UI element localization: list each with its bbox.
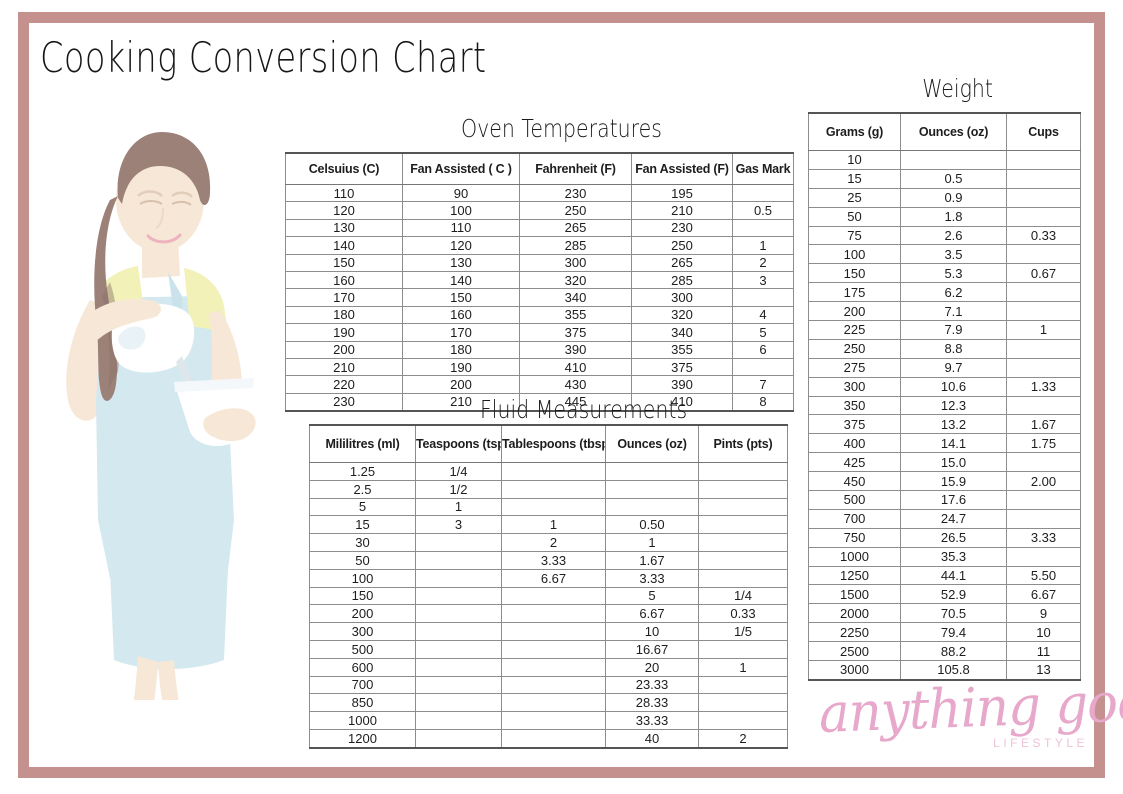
table-cell: 265: [520, 219, 632, 236]
table-row: 2007.1: [809, 302, 1081, 321]
table-row: 2006.670.33: [310, 605, 788, 623]
table-row: 2508.8: [809, 339, 1081, 358]
table-cell: 375: [632, 358, 733, 375]
table-cell: 5: [733, 324, 794, 341]
table-cell: 5: [310, 498, 416, 516]
table-cell: [416, 729, 502, 747]
table-cell: 250: [520, 202, 632, 219]
table-cell: [1007, 302, 1081, 321]
table-cell: [1007, 547, 1081, 566]
table-cell: 28.33: [606, 694, 699, 712]
table-cell: [733, 219, 794, 236]
table-row: 1601403202853: [286, 271, 794, 288]
table-cell: 44.1: [901, 566, 1007, 585]
table-cell: [416, 569, 502, 587]
table-cell: 1500: [809, 585, 901, 604]
table-cell: 17.6: [901, 491, 1007, 510]
table-cell: 110: [403, 219, 520, 236]
table-cell: 7: [733, 376, 794, 393]
column-header: Teaspoons (tsp): [416, 425, 502, 463]
table-cell: 6.2: [901, 283, 1007, 302]
oven-temperatures-table: Celsuius (C) Fan Assisted ( C ) Fahrenhe…: [285, 152, 794, 412]
table-cell: 390: [632, 376, 733, 393]
table-cell: 5: [606, 587, 699, 605]
table-cell: 6.67: [1007, 585, 1081, 604]
table-cell: 200: [310, 605, 416, 623]
logo-subtitle-text: LIFESTYLE: [993, 736, 1088, 750]
table-cell: 1.67: [1007, 415, 1081, 434]
table-cell: 410: [520, 358, 632, 375]
page-title: Cooking Conversion Chart: [40, 33, 487, 82]
table-cell: [502, 658, 606, 676]
table-row: 250088.211: [809, 642, 1081, 661]
table-row: 170150340300: [286, 289, 794, 306]
table-cell: [699, 516, 788, 534]
table-cell: 50: [310, 551, 416, 569]
table-row: 35012.3: [809, 396, 1081, 415]
table-cell: 430: [520, 376, 632, 393]
table-row: 210190410375: [286, 358, 794, 375]
table-cell: 10: [809, 151, 901, 170]
table-row: 125044.15.50: [809, 566, 1081, 585]
table-cell: [416, 587, 502, 605]
table-cell: 140: [286, 237, 403, 254]
table-row: 1401202852501: [286, 237, 794, 254]
table-cell: 320: [520, 271, 632, 288]
table-cell: [1007, 358, 1081, 377]
table-row: 2001803903556: [286, 341, 794, 358]
table-cell: 79.4: [901, 623, 1007, 642]
table-cell: 3.33: [606, 569, 699, 587]
table-cell: 15: [310, 516, 416, 534]
table-cell: [699, 676, 788, 694]
table-cell: 9.7: [901, 358, 1007, 377]
column-header: Grams (g): [809, 113, 901, 151]
table-cell: 1.25: [310, 463, 416, 481]
table-row: 40014.11.75: [809, 434, 1081, 453]
table-cell: 350: [809, 396, 901, 415]
table-cell: [699, 694, 788, 712]
table-cell: 850: [310, 694, 416, 712]
table-cell: 170: [403, 324, 520, 341]
table-row: 150052.96.67: [809, 585, 1081, 604]
table-row: 1756.2: [809, 283, 1081, 302]
weight-table-body: 10150.5250.9501.8752.60.331003.51505.30.…: [809, 151, 1081, 680]
table-row: 45015.92.00: [809, 472, 1081, 491]
column-header: Fan Assisted (F): [632, 153, 733, 185]
table-cell: 110: [286, 185, 403, 202]
table-cell: 285: [632, 271, 733, 288]
column-header: Tablespoons (tbsp): [502, 425, 606, 463]
table-cell: [416, 658, 502, 676]
oven-section-title: Oven Temperatures: [461, 114, 625, 143]
table-cell: 20: [606, 658, 699, 676]
table-cell: 10: [1007, 623, 1081, 642]
table-cell: [901, 151, 1007, 170]
table-row: 50016.67: [310, 640, 788, 658]
logo-script-text: anything goes: [818, 669, 1123, 745]
table-row: 37513.21.67: [809, 415, 1081, 434]
table-cell: 1/5: [699, 623, 788, 641]
table-row: 1200402: [310, 729, 788, 747]
conversion-chart-page: Cooking Conversion Chart: [0, 0, 1123, 794]
column-header: Fan Assisted ( C ): [403, 153, 520, 185]
table-cell: 2250: [809, 623, 901, 642]
table-cell: [416, 712, 502, 730]
table-cell: 180: [403, 341, 520, 358]
table-row: 1.251/4: [310, 463, 788, 481]
table-cell: 15.0: [901, 453, 1007, 472]
woman-baking-illustration: [32, 100, 282, 700]
table-row: 1006.673.33: [310, 569, 788, 587]
table-row: 752.60.33: [809, 226, 1081, 245]
table-cell: 300: [632, 289, 733, 306]
table-cell: [606, 480, 699, 498]
table-cell: 8.8: [901, 339, 1007, 358]
table-cell: 1/2: [416, 480, 502, 498]
oven-table-body: 110902301951201002502100.513011026523014…: [286, 185, 794, 412]
table-cell: 250: [632, 237, 733, 254]
table-cell: 375: [520, 324, 632, 341]
table-row: 30010.61.33: [809, 377, 1081, 396]
table-cell: 3.33: [502, 551, 606, 569]
column-header: Celsuius (C): [286, 153, 403, 185]
table-row: 15051/4: [310, 587, 788, 605]
column-header: Fahrenheit (F): [520, 153, 632, 185]
table-row: 250.9: [809, 188, 1081, 207]
table-row: 75026.53.33: [809, 528, 1081, 547]
column-header: Ounces (oz): [901, 113, 1007, 151]
table-row: 1901703753405: [286, 324, 794, 341]
table-cell: 14.1: [901, 434, 1007, 453]
table-cell: 30: [310, 534, 416, 552]
table-cell: 100: [310, 569, 416, 587]
table-row: 503.331.67: [310, 551, 788, 569]
table-cell: 100: [403, 202, 520, 219]
table-cell: 1: [416, 498, 502, 516]
table-cell: 1: [606, 534, 699, 552]
table-header-row: Grams (g) Ounces (oz) Cups: [809, 113, 1081, 151]
table-row: 2.51/2: [310, 480, 788, 498]
table-row: 70024.7: [809, 509, 1081, 528]
table-header-row: Celsuius (C) Fan Assisted ( C ) Fahrenhe…: [286, 153, 794, 185]
table-cell: [699, 498, 788, 516]
table-cell: 0.67: [1007, 264, 1081, 283]
table-cell: 300: [310, 623, 416, 641]
table-cell: [502, 694, 606, 712]
table-cell: 1250: [809, 566, 901, 585]
table-cell: [416, 623, 502, 641]
table-cell: 5.3: [901, 264, 1007, 283]
table-cell: 140: [403, 271, 520, 288]
table-cell: 1.75: [1007, 434, 1081, 453]
table-cell: 425: [809, 453, 901, 472]
table-cell: 2.6: [901, 226, 1007, 245]
table-cell: 500: [310, 640, 416, 658]
table-cell: 355: [520, 306, 632, 323]
table-cell: 40: [606, 729, 699, 747]
table-cell: 23.33: [606, 676, 699, 694]
table-cell: 130: [403, 254, 520, 271]
table-row: 50017.6: [809, 491, 1081, 510]
table-cell: 1.67: [606, 551, 699, 569]
table-cell: [416, 640, 502, 658]
table-cell: 50: [809, 207, 901, 226]
table-row: 1003.5: [809, 245, 1081, 264]
table-row: 2257.91: [809, 321, 1081, 340]
table-cell: [502, 587, 606, 605]
table-cell: 200: [809, 302, 901, 321]
table-cell: 1/4: [416, 463, 502, 481]
table-cell: 0.5: [901, 169, 1007, 188]
table-cell: 10: [606, 623, 699, 641]
table-cell: [1007, 509, 1081, 528]
table-cell: [606, 463, 699, 481]
table-cell: [1007, 283, 1081, 302]
table-cell: 180: [286, 306, 403, 323]
table-cell: [502, 463, 606, 481]
table-cell: 190: [286, 324, 403, 341]
table-cell: 1/4: [699, 587, 788, 605]
column-header: Ounces (oz): [606, 425, 699, 463]
table-cell: 1000: [310, 712, 416, 730]
table-cell: 7.9: [901, 321, 1007, 340]
table-cell: 150: [809, 264, 901, 283]
table-cell: [606, 498, 699, 516]
table-cell: 6: [733, 341, 794, 358]
table-row: 15310.50: [310, 516, 788, 534]
table-cell: 195: [632, 185, 733, 202]
table-cell: [416, 676, 502, 694]
table-cell: [1007, 188, 1081, 207]
table-cell: 90: [403, 185, 520, 202]
column-header: Cups: [1007, 113, 1081, 151]
table-cell: 220: [286, 376, 403, 393]
table-row: 10: [809, 151, 1081, 170]
column-header: Gas Mark: [733, 153, 794, 185]
table-cell: 33.33: [606, 712, 699, 730]
table-cell: 0.33: [1007, 226, 1081, 245]
fluid-measurements-table: Mililitres (ml) Teaspoons (tsp) Tablespo…: [309, 424, 788, 749]
table-row: 130110265230: [286, 219, 794, 236]
table-cell: 1200: [310, 729, 416, 747]
table-cell: 160: [403, 306, 520, 323]
table-cell: [502, 623, 606, 641]
table-cell: 0.50: [606, 516, 699, 534]
table-cell: 120: [403, 237, 520, 254]
table-cell: 285: [520, 237, 632, 254]
table-row: 42515.0: [809, 453, 1081, 472]
table-cell: 200: [286, 341, 403, 358]
table-cell: 11: [1007, 642, 1081, 661]
table-cell: 130: [286, 219, 403, 236]
table-cell: 300: [520, 254, 632, 271]
table-cell: 15.9: [901, 472, 1007, 491]
table-cell: 6.67: [606, 605, 699, 623]
table-row: 51: [310, 498, 788, 516]
table-row: 1505.30.67: [809, 264, 1081, 283]
table-row: 85028.33: [310, 694, 788, 712]
table-cell: 1000: [809, 547, 901, 566]
table-cell: 2: [699, 729, 788, 747]
table-cell: [699, 712, 788, 730]
table-cell: 210: [632, 202, 733, 219]
table-cell: [699, 463, 788, 481]
table-cell: 265: [632, 254, 733, 271]
table-cell: 0.33: [699, 605, 788, 623]
table-cell: 26.5: [901, 528, 1007, 547]
table-cell: 600: [310, 658, 416, 676]
table-cell: 375: [809, 415, 901, 434]
table-cell: 275: [809, 358, 901, 377]
table-row: 600201: [310, 658, 788, 676]
table-cell: 210: [286, 358, 403, 375]
table-cell: 175: [809, 283, 901, 302]
table-cell: 230: [286, 393, 403, 411]
table-cell: 700: [310, 676, 416, 694]
table-cell: [502, 712, 606, 730]
table-cell: [416, 534, 502, 552]
table-cell: 70.5: [901, 604, 1007, 623]
table-cell: 16.67: [606, 640, 699, 658]
table-row: 1201002502100.5: [286, 202, 794, 219]
table-cell: [1007, 207, 1081, 226]
table-cell: 150: [403, 289, 520, 306]
column-header: Mililitres (ml): [310, 425, 416, 463]
table-cell: 1.8: [901, 207, 1007, 226]
table-cell: [1007, 453, 1081, 472]
table-cell: 24.7: [901, 509, 1007, 528]
table-cell: 7.1: [901, 302, 1007, 321]
table-cell: [699, 551, 788, 569]
table-cell: 6.67: [502, 569, 606, 587]
table-cell: 225: [809, 321, 901, 340]
table-cell: 25: [809, 188, 901, 207]
table-cell: [699, 640, 788, 658]
table-cell: 170: [286, 289, 403, 306]
table-row: 11090230195: [286, 185, 794, 202]
table-cell: 1.33: [1007, 377, 1081, 396]
table-row: 1501303002652: [286, 254, 794, 271]
table-cell: 9: [1007, 604, 1081, 623]
table-cell: 100: [809, 245, 901, 264]
table-header-row: Mililitres (ml) Teaspoons (tsp) Tablespo…: [310, 425, 788, 463]
table-cell: [1007, 491, 1081, 510]
table-cell: [416, 694, 502, 712]
table-cell: 15: [809, 169, 901, 188]
table-cell: 0.5: [733, 202, 794, 219]
table-cell: 0.9: [901, 188, 1007, 207]
table-cell: 8: [733, 393, 794, 411]
table-cell: 2: [733, 254, 794, 271]
table-cell: 2000: [809, 604, 901, 623]
table-cell: 230: [632, 219, 733, 236]
table-cell: 88.2: [901, 642, 1007, 661]
brand-logo: anything goes LIFESTYLE: [818, 682, 1090, 752]
table-cell: [502, 729, 606, 747]
table-cell: 2: [502, 534, 606, 552]
table-cell: 390: [520, 341, 632, 358]
table-cell: [733, 358, 794, 375]
table-cell: 120: [286, 202, 403, 219]
table-row: 3021: [310, 534, 788, 552]
table-cell: 230: [520, 185, 632, 202]
table-cell: 13.2: [901, 415, 1007, 434]
table-cell: [733, 185, 794, 202]
table-cell: 5.50: [1007, 566, 1081, 585]
table-cell: 340: [632, 324, 733, 341]
table-cell: 3.5: [901, 245, 1007, 264]
table-row: 300101/5: [310, 623, 788, 641]
table-cell: 3.33: [1007, 528, 1081, 547]
table-cell: 2.5: [310, 480, 416, 498]
table-cell: [416, 605, 502, 623]
table-cell: 1: [733, 237, 794, 254]
table-row: 225079.410: [809, 623, 1081, 642]
table-cell: [1007, 396, 1081, 415]
table-cell: 3: [416, 516, 502, 534]
table-cell: [416, 551, 502, 569]
fluid-section-title: Fluid Measurements: [480, 395, 644, 424]
table-row: 150.5: [809, 169, 1081, 188]
table-cell: 450: [809, 472, 901, 491]
table-cell: 2.00: [1007, 472, 1081, 491]
table-cell: 4: [733, 306, 794, 323]
table-row: 200070.59: [809, 604, 1081, 623]
table-cell: 250: [809, 339, 901, 358]
table-cell: 150: [310, 587, 416, 605]
table-cell: 300: [809, 377, 901, 396]
table-cell: 1: [502, 516, 606, 534]
table-cell: [1007, 151, 1081, 170]
table-cell: [502, 480, 606, 498]
table-cell: 10.6: [901, 377, 1007, 396]
table-cell: 340: [520, 289, 632, 306]
table-cell: 35.3: [901, 547, 1007, 566]
weight-table: Grams (g) Ounces (oz) Cups 10150.5250.95…: [808, 112, 1081, 681]
table-cell: [502, 605, 606, 623]
table-cell: 160: [286, 271, 403, 288]
table-row: 1801603553204: [286, 306, 794, 323]
table-cell: 2500: [809, 642, 901, 661]
table-row: 70023.33: [310, 676, 788, 694]
table-cell: 1: [699, 658, 788, 676]
table-cell: 500: [809, 491, 901, 510]
table-cell: [1007, 339, 1081, 358]
table-cell: 52.9: [901, 585, 1007, 604]
table-cell: 1: [1007, 321, 1081, 340]
column-header: Pints (pts): [699, 425, 788, 463]
table-cell: [502, 640, 606, 658]
table-cell: 150: [286, 254, 403, 271]
table-cell: 75: [809, 226, 901, 245]
table-row: 2202004303907: [286, 376, 794, 393]
table-cell: [699, 569, 788, 587]
table-cell: [699, 480, 788, 498]
table-cell: [699, 534, 788, 552]
table-cell: 400: [809, 434, 901, 453]
table-cell: [502, 498, 606, 516]
table-cell: 190: [403, 358, 520, 375]
table-row: 501.8: [809, 207, 1081, 226]
table-row: 2759.7: [809, 358, 1081, 377]
table-cell: 3000: [809, 661, 901, 680]
table-row: 100033.33: [310, 712, 788, 730]
table-cell: 750: [809, 528, 901, 547]
table-cell: 12.3: [901, 396, 1007, 415]
table-row: 100035.3: [809, 547, 1081, 566]
table-cell: [502, 676, 606, 694]
